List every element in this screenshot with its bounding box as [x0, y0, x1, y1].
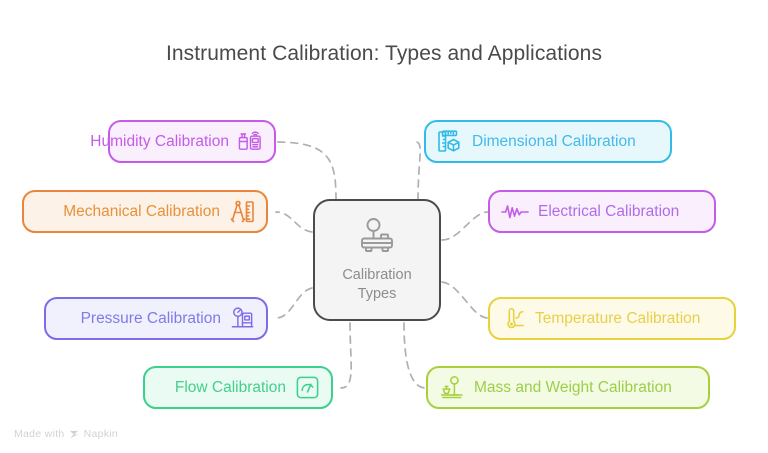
node-mass-weight-calibration[interactable]: Mass and Weight Calibration	[426, 366, 710, 409]
center-node-calibration-types[interactable]: Calibration Types	[313, 199, 441, 321]
edge-center-pressure	[276, 288, 312, 318]
diagram-canvas: Instrument Calibration: Types and Applic…	[0, 0, 768, 453]
center-node-label: Calibration Types	[342, 266, 411, 303]
node-label-mass: Mass and Weight Calibration	[474, 380, 672, 396]
node-label-mechanical: Mechanical Calibration	[63, 204, 220, 220]
edge-center-flow	[341, 323, 351, 388]
node-label-flow: Flow Calibration	[175, 380, 286, 396]
napkin-logo-icon	[69, 429, 80, 440]
edge-center-humidity	[276, 142, 336, 200]
balance-scale-icon	[439, 375, 465, 401]
node-temperature-calibration[interactable]: Temperature Calibration	[488, 297, 736, 340]
page-title: Instrument Calibration: Types and Applic…	[0, 42, 768, 66]
thermometer-icon	[501, 306, 526, 332]
waveform-icon	[501, 202, 529, 222]
node-label-humidity: Humidity Calibration	[90, 134, 229, 150]
pressure-gauge-icon	[230, 306, 255, 331]
node-humidity-calibration[interactable]: Humidity Calibration	[108, 120, 276, 163]
node-label-pressure: Pressure Calibration	[81, 311, 221, 327]
node-label-dimensional: Dimensional Calibration	[472, 134, 636, 150]
node-pressure-calibration[interactable]: Pressure Calibration	[44, 297, 268, 340]
ruler-cube-icon	[437, 129, 463, 155]
node-label-temperature: Temperature Calibration	[535, 311, 700, 327]
center-node-label-line2: Types	[358, 286, 397, 302]
node-label-electrical: Electrical Calibration	[538, 204, 679, 220]
edge-center-dimensional	[416, 142, 420, 200]
node-flow-calibration[interactable]: Flow Calibration	[143, 366, 333, 409]
calibration-bench-icon	[354, 216, 400, 261]
node-electrical-calibration[interactable]: Electrical Calibration	[488, 190, 716, 233]
node-dimensional-calibration[interactable]: Dimensional Calibration	[424, 120, 672, 163]
node-mechanical-calibration[interactable]: Mechanical Calibration	[22, 190, 268, 233]
compass-ruler-icon	[229, 199, 255, 225]
watermark: Made with Napkin	[14, 428, 118, 440]
flow-gauge-icon	[295, 375, 320, 400]
center-node-label-line1: Calibration	[342, 267, 411, 283]
watermark-prefix: Made with	[14, 428, 65, 440]
humidity-meter-icon	[238, 129, 263, 154]
edge-center-electrical	[442, 212, 488, 240]
edge-center-temperature	[442, 282, 488, 318]
watermark-brand: Napkin	[84, 428, 118, 440]
edge-center-mass	[404, 323, 426, 388]
edge-center-mechanical	[276, 212, 312, 232]
